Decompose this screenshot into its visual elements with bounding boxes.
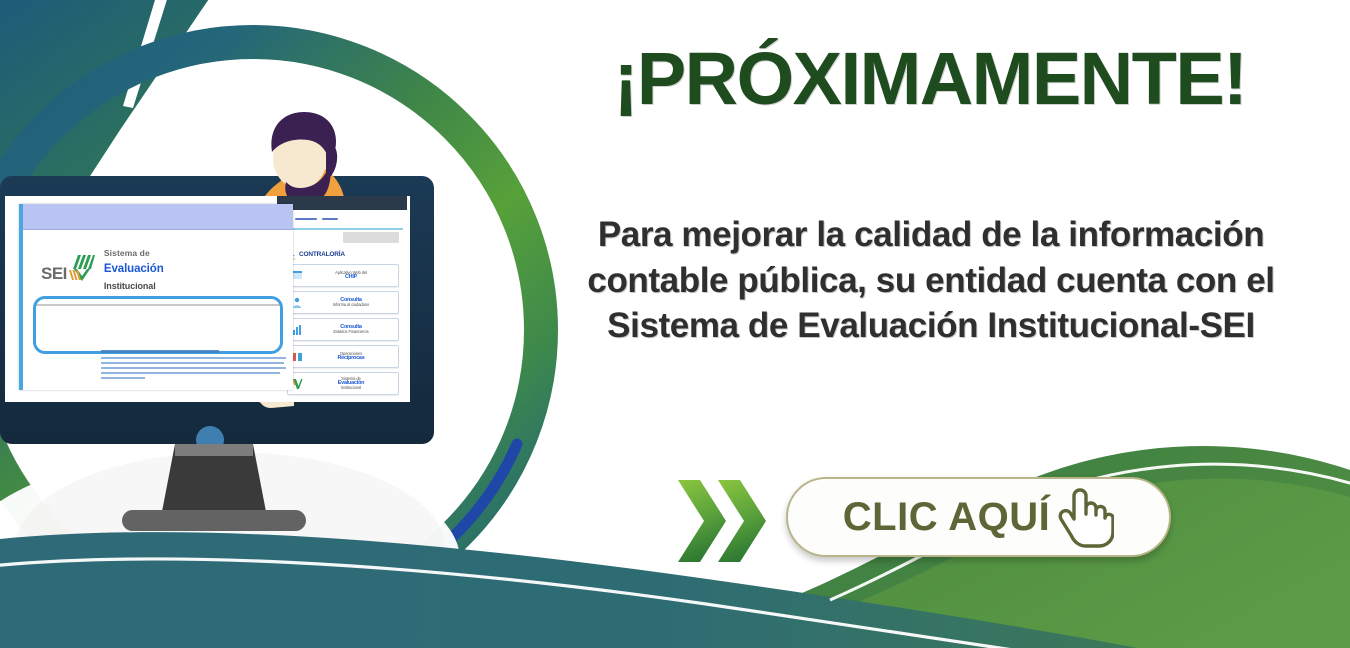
cta-label: CLIC AQUÍ (843, 495, 1050, 540)
promo-banner: CONTRALORÍA GENERAL DE LA REPÚBLICA Apli… (0, 0, 1350, 648)
mini-url-segment (322, 218, 338, 220)
sei-logo-card: SEI (19, 204, 293, 390)
chevron-1 (678, 480, 726, 562)
clic-aqui-button[interactable]: CLIC AQUÍ (786, 477, 1171, 557)
sei-wordmark: Sistema de Evaluación Institucional (104, 244, 164, 293)
mini-menu-label-small: Estados Financieros (306, 330, 396, 334)
screen-content: CONTRALORÍA GENERAL DE LA REPÚBLICA Apli… (5, 196, 410, 402)
sei-line-1: Sistema de (104, 248, 150, 258)
mini-menu-item-estados[interactable]: Consulta Estados Financieros (287, 318, 399, 341)
mini-menu-label: Consulta Estados Financieros (306, 325, 396, 335)
paragraph-line (101, 357, 286, 359)
mini-menu-item-sei[interactable]: Sistema de Evaluación Institucional (287, 372, 399, 395)
mini-menu-label: Operaciones Recíprocas (306, 352, 396, 362)
contraloria-name: CONTRALORÍA (299, 251, 345, 258)
double-chevron-right-icon (676, 478, 768, 564)
sei-mark: SEI (41, 254, 95, 282)
mini-menu-label-big: Recíprocas (306, 356, 396, 361)
promo-description: Para mejorar la calidad de la informació… (575, 212, 1287, 349)
mini-menu-label-small2: Institucional (306, 386, 396, 390)
card-rounded-box (33, 296, 283, 354)
sei-acronym: SEI (41, 265, 67, 282)
mini-menu-list: Aplicativo Web del CHIP Consulta Informa… (287, 264, 399, 395)
monitor-base (122, 510, 306, 531)
mini-banner-placeholder (343, 232, 399, 243)
paragraph-line (101, 367, 286, 369)
card-paragraph (101, 350, 286, 382)
paragraph-heading-line (101, 350, 219, 353)
sei-line-3: Institucional (104, 281, 156, 291)
sei-stripes-icon (69, 254, 95, 282)
pointing-hand-icon (1052, 488, 1114, 550)
mini-menu-label-small: Informa al ciudadano (306, 303, 396, 307)
mini-menu-label: Consulta Informa al ciudadano (306, 298, 396, 308)
page-title: ¡PRÓXIMAMENTE! (565, 42, 1295, 116)
mini-menu-item-chip[interactable]: Aplicativo Web del CHIP (287, 264, 399, 287)
mini-menu-item-ciudadano[interactable]: Consulta Informa al ciudadano (287, 291, 399, 314)
sei-line-2: Evaluación (104, 263, 164, 275)
mini-menu-label-big: CHIP (306, 275, 396, 280)
mini-site-sidebar: CONTRALORÍA GENERAL DE LA REPÚBLICA Apli… (277, 196, 407, 402)
card-header-bar (23, 204, 293, 230)
mini-browser-tabline (281, 228, 403, 230)
mini-browser-urlbar (281, 213, 403, 225)
paragraph-line (101, 362, 284, 364)
paragraph-line (101, 372, 280, 374)
mini-menu-label: Sistema de Evaluación Institucional (306, 377, 396, 391)
mini-menu-label: Aplicativo Web del CHIP (306, 271, 396, 281)
mini-browser-topbar (277, 196, 407, 210)
mini-menu-item-reciprocas[interactable]: Operaciones Recíprocas (287, 345, 399, 368)
sei-logo: SEI (23, 230, 293, 299)
mini-url-segment (295, 218, 317, 220)
paragraph-line (101, 377, 145, 379)
sei-illustration: CONTRALORÍA GENERAL DE LA REPÚBLICA Apli… (0, 0, 540, 648)
